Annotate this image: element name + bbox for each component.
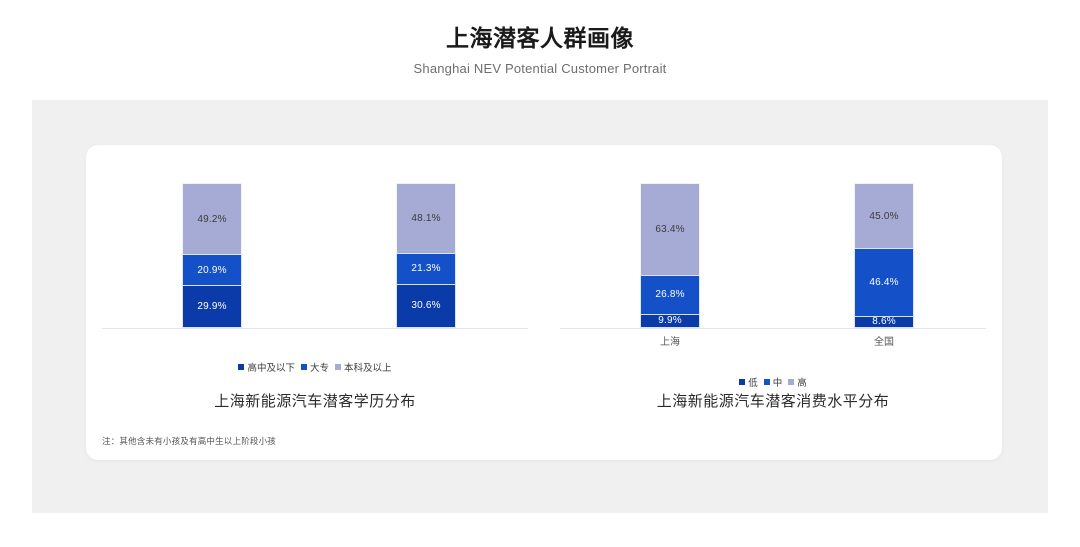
axis-labels: 上海全国	[544, 333, 1002, 349]
legend-item[interactable]: 本科及以上	[335, 360, 392, 374]
charts-row: 49.2%20.9%29.9%48.1%21.3%30.6%高中及以下大专本科及…	[86, 145, 1002, 415]
bar-segment[interactable]: 46.4%	[854, 248, 914, 315]
bar-segment[interactable]: 26.8%	[640, 275, 700, 314]
page-subtitle: Shanghai NEV Potential Customer Portrait	[0, 61, 1080, 76]
footnote: 注：其他含未有小孩及有高中生以上阶段小孩	[102, 435, 276, 447]
chart-legend: 低中高	[544, 375, 1002, 389]
bar-segment-label: 20.9%	[197, 265, 226, 276]
legend-label: 本科及以上	[344, 360, 392, 374]
chart-caption: 上海新能源汽车潜客消费水平分布	[544, 390, 1002, 411]
legend-label: 中	[773, 375, 783, 389]
axis-labels	[86, 333, 544, 349]
bar-segment-label: 45.0%	[869, 211, 898, 222]
chart-2: 63.4%26.8%9.9%45.0%46.4%8.6%上海全国低中高上海新能源…	[544, 145, 1002, 415]
legend-item[interactable]: 高中及以下	[238, 360, 295, 374]
plot-area: 63.4%26.8%9.9%45.0%46.4%8.6%	[544, 183, 1002, 328]
bar-segment-label: 46.4%	[869, 277, 898, 288]
bar-segment-label: 29.9%	[197, 301, 226, 312]
bar-segment[interactable]: 29.9%	[182, 285, 242, 328]
legend-label: 低	[748, 375, 758, 389]
axis-label: 上海	[640, 333, 700, 348]
bar-stack[interactable]: 49.2%20.9%29.9%	[182, 183, 242, 328]
axis-label: 全国	[854, 333, 914, 348]
axis-line	[560, 328, 986, 329]
legend-swatch-icon	[764, 379, 770, 385]
legend-item[interactable]: 高	[788, 375, 807, 389]
legend-swatch-icon	[335, 364, 341, 370]
legend-label: 高中及以下	[247, 360, 295, 374]
legend-item[interactable]: 低	[739, 375, 758, 389]
bar-segment-label: 30.6%	[411, 300, 440, 311]
bar-segment[interactable]: 48.1%	[396, 183, 456, 253]
bar-segment-label: 9.9%	[658, 315, 682, 326]
bar-stack[interactable]: 45.0%46.4%8.6%	[854, 183, 914, 328]
page-header: 上海潜客人群画像 Shanghai NEV Potential Customer…	[0, 0, 1080, 76]
chart-1: 49.2%20.9%29.9%48.1%21.3%30.6%高中及以下大专本科及…	[86, 145, 544, 415]
bar-segment-label: 26.8%	[655, 289, 684, 300]
chart-caption: 上海新能源汽车潜客学历分布	[86, 390, 544, 411]
legend-swatch-icon	[739, 379, 745, 385]
bar-stack[interactable]: 48.1%21.3%30.6%	[396, 183, 456, 328]
bar-segment-label: 48.1%	[411, 213, 440, 224]
plot-area: 49.2%20.9%29.9%48.1%21.3%30.6%	[86, 183, 544, 328]
axis-line	[102, 328, 528, 329]
bar-segment[interactable]: 30.6%	[396, 284, 456, 328]
bar-segment[interactable]: 63.4%	[640, 183, 700, 275]
page-title: 上海潜客人群画像	[0, 24, 1080, 54]
chart-card: 49.2%20.9%29.9%48.1%21.3%30.6%高中及以下大专本科及…	[86, 145, 1002, 460]
bar-segment[interactable]: 49.2%	[182, 183, 242, 254]
legend-swatch-icon	[301, 364, 307, 370]
bar-segment-label: 21.3%	[411, 263, 440, 274]
legend-swatch-icon	[788, 379, 794, 385]
legend-swatch-icon	[238, 364, 244, 370]
bar-stack[interactable]: 63.4%26.8%9.9%	[640, 183, 700, 328]
legend-label: 高	[797, 375, 807, 389]
bar-segment[interactable]: 8.6%	[854, 316, 914, 328]
bar-segment-label: 63.4%	[655, 224, 684, 235]
bar-segment-label: 8.6%	[872, 316, 896, 327]
bar-segment[interactable]: 45.0%	[854, 183, 914, 248]
legend-item[interactable]: 中	[764, 375, 783, 389]
bar-segment[interactable]: 9.9%	[640, 314, 700, 328]
legend-item[interactable]: 大专	[301, 360, 329, 374]
bar-segment[interactable]: 21.3%	[396, 253, 456, 284]
bar-segment[interactable]: 20.9%	[182, 254, 242, 284]
bar-segment-label: 49.2%	[197, 214, 226, 225]
legend-label: 大专	[310, 360, 329, 374]
chart-legend: 高中及以下大专本科及以上	[86, 360, 544, 374]
